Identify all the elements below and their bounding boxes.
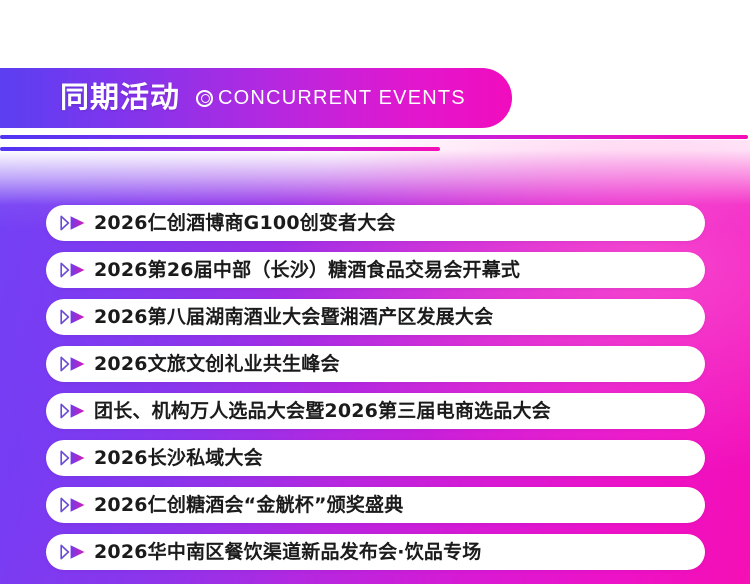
double-chevron-right-icon [60,356,86,372]
concurrent-events-poster: 同期活动 CONCURRENT EVENTS 2026仁创酒博商G100创变者大… [0,0,750,584]
double-chevron-right-icon [60,309,86,325]
decorative-line-short [0,147,440,151]
event-list-item-3[interactable]: 2026第八届湖南酒业大会暨湘酒产区发展大会 [46,299,705,335]
event-label: 2026文旅文创礼业共生峰会 [94,355,340,374]
event-label: 2026长沙私域大会 [94,449,263,468]
header-banner: 同期活动 CONCURRENT EVENTS [0,68,512,128]
event-label: 2026第八届湖南酒业大会暨湘酒产区发展大会 [94,308,493,327]
banner-title-chinese: 同期活动 [60,84,180,113]
banner-title-english-group: CONCURRENT EVENTS [196,88,466,108]
event-label: 2026仁创酒博商G100创变者大会 [94,214,396,233]
double-chevron-right-icon [60,497,86,513]
event-label: 2026华中南区餐饮渠道新品发布会·饮品专场 [94,543,482,562]
event-label: 团长、机构万人选品大会暨2026第三届电商选品大会 [94,402,551,421]
double-chevron-right-icon [60,215,86,231]
double-circle-icon [196,90,213,107]
event-list-item-2[interactable]: 2026第26届中部（长沙）糖酒食品交易会开幕式 [46,252,705,288]
event-list-item-1[interactable]: 2026仁创酒博商G100创变者大会 [46,205,705,241]
double-chevron-right-icon [60,262,86,278]
event-list-item-8[interactable]: 2026华中南区餐饮渠道新品发布会·饮品专场 [46,534,705,570]
event-list-item-6[interactable]: 2026长沙私域大会 [46,440,705,476]
double-chevron-right-icon [60,544,86,560]
event-list-item-4[interactable]: 2026文旅文创礼业共生峰会 [46,346,705,382]
double-chevron-right-icon [60,450,86,466]
event-list-item-5[interactable]: 团长、机构万人选品大会暨2026第三届电商选品大会 [46,393,705,429]
banner-title-english: CONCURRENT EVENTS [218,88,466,108]
event-label: 2026仁创糖酒会“金觥杯”颁奖盛典 [94,496,403,515]
event-label: 2026第26届中部（长沙）糖酒食品交易会开幕式 [94,261,520,280]
event-list-item-7[interactable]: 2026仁创糖酒会“金觥杯”颁奖盛典 [46,487,705,523]
decorative-line-long [0,135,748,139]
double-chevron-right-icon [60,403,86,419]
event-list: 2026仁创酒博商G100创变者大会 2026第26届中部（长沙）糖酒食品交易会… [46,205,705,570]
